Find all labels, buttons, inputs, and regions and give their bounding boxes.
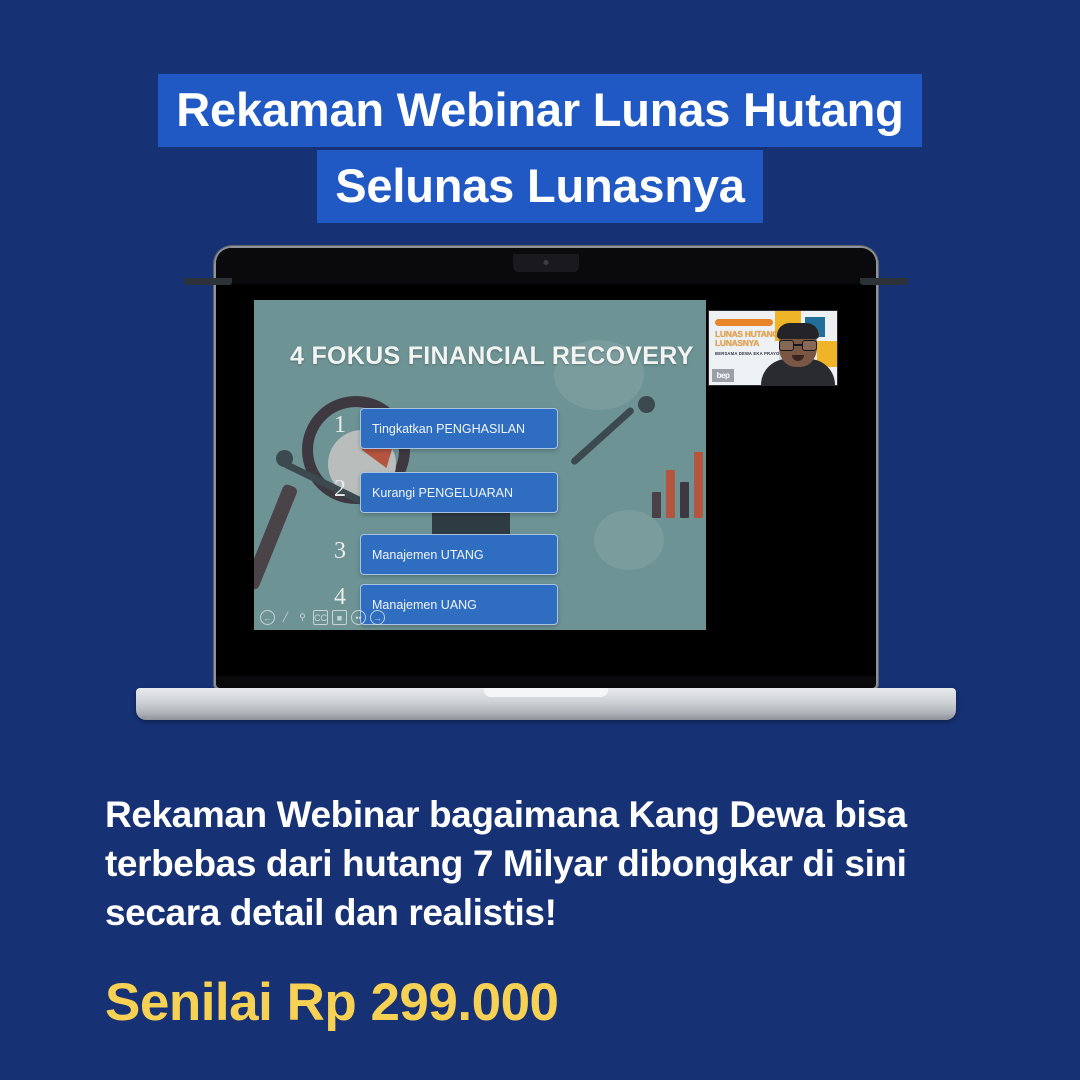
decorative-blob — [594, 510, 664, 570]
laptop-foot — [860, 278, 908, 285]
bar-graphic — [666, 470, 675, 518]
pen-icon[interactable]: ╱ — [279, 611, 292, 624]
glasses-icon — [779, 340, 817, 351]
slide-item-number: 3 — [334, 538, 346, 565]
webcam-presenter — [759, 323, 837, 385]
webcam-lens-icon — [544, 260, 549, 265]
zoom-icon[interactable]: ⚲ — [296, 611, 309, 624]
slide-item-3[interactable]: Manajemen UTANG — [360, 534, 558, 575]
laptop-base — [136, 688, 956, 720]
bar-graphic — [694, 452, 703, 518]
more-options-icon[interactable]: •• — [351, 610, 366, 625]
slide-title: 4 FOKUS FINANCIAL RECOVERY — [290, 342, 694, 371]
promo-poster: Rekaman Webinar Lunas Hutang Selunas Lun… — [0, 0, 1080, 1080]
laptop-screen: 4 FOKUS FINANCIAL RECOVERY 1 Tingkatkan … — [216, 284, 876, 676]
price-label: Senilai Rp 299.000 — [105, 972, 559, 1033]
slide-item-number: 4 — [334, 584, 346, 611]
slide-toolbar[interactable]: ← ╱ ⚲ CC ■ •• → — [260, 610, 385, 625]
laptop-foot — [184, 278, 232, 285]
slide-item-1[interactable]: Tingkatkan PENGHASILAN — [360, 408, 558, 449]
presentation-slide: 4 FOKUS FINANCIAL RECOVERY 1 Tingkatkan … — [254, 300, 706, 630]
slide-item-4[interactable]: Manajemen UANG — [360, 584, 558, 625]
bar-graphic — [680, 482, 689, 518]
title-line-1: Rekaman Webinar Lunas Hutang — [158, 74, 921, 147]
slide-item-2[interactable]: Kurangi PENGELUARAN — [360, 472, 558, 513]
back-arrow-icon[interactable]: ← — [260, 610, 275, 625]
camera-notch — [513, 254, 579, 272]
webcam-logo: bep — [712, 369, 734, 382]
magnifier-handle-icon — [254, 483, 298, 591]
closed-caption-icon[interactable]: CC — [313, 610, 328, 625]
camera-icon[interactable]: ■ — [332, 610, 347, 625]
laptop-lid: 4 FOKUS FINANCIAL RECOVERY 1 Tingkatkan … — [216, 248, 876, 688]
base-notch — [484, 688, 608, 697]
forward-arrow-icon[interactable]: → — [370, 610, 385, 625]
title-line-2: Selunas Lunasnya — [317, 150, 763, 223]
presenter-hair — [777, 323, 819, 339]
laptop-top-bezel — [216, 248, 876, 284]
trend-line — [570, 406, 636, 466]
slide-item-number: 2 — [334, 476, 346, 503]
laptop-mockup: 4 FOKUS FINANCIAL RECOVERY 1 Tingkatkan … — [136, 248, 956, 728]
slide-item-number: 1 — [334, 412, 346, 439]
trend-dot — [638, 396, 655, 413]
body-copy: Rekaman Webinar bagaimana Kang Dewa bisa… — [105, 790, 985, 937]
page-title: Rekaman Webinar Lunas Hutang Selunas Lun… — [0, 74, 1080, 223]
bar-graphic — [652, 492, 661, 518]
webcam-overlay[interactable]: LUNAS HUTANG SELUNAS LUNASNYA BERSAMA DE… — [708, 310, 838, 386]
